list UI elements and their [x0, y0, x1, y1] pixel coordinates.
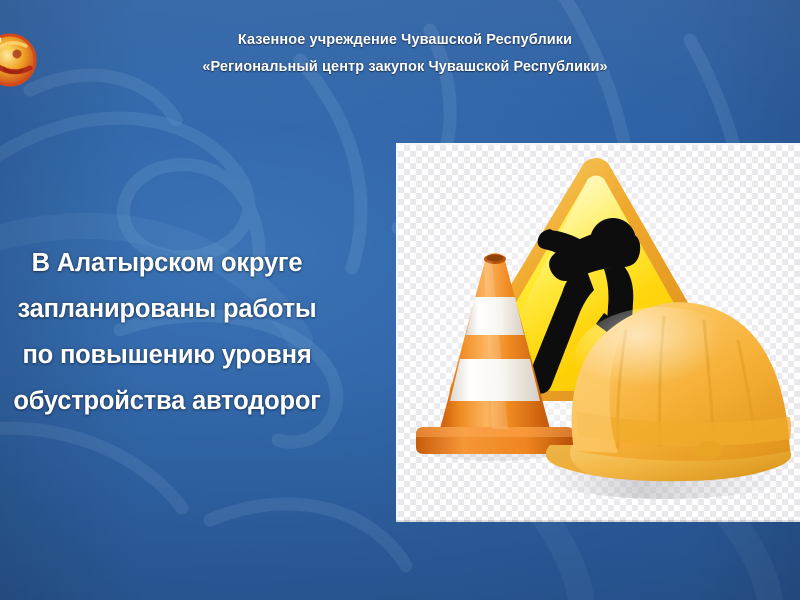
illustration-panel [396, 143, 800, 522]
headline-block: В Алатырском округе запланированы работы… [0, 240, 346, 424]
headline-line-1: В Алатырском округе [0, 240, 346, 286]
headline-line-2: запланированы работы [0, 286, 346, 332]
headline-line-4: обустройства автодорог [0, 378, 346, 424]
organization-name-line1: Казенное учреждение Чувашской Республики [10, 30, 800, 50]
organization-header: Казенное учреждение Чувашской Республики… [0, 30, 800, 77]
panel-bottom-shadow [396, 520, 800, 522]
slide-root: Казенное учреждение Чувашской Республики… [0, 0, 800, 600]
headline-line-3: по повышению уровня [0, 332, 346, 378]
organization-name-line2: «Региональный центр закупок Чувашской Ре… [10, 57, 800, 77]
road-works-clipart [398, 145, 800, 522]
